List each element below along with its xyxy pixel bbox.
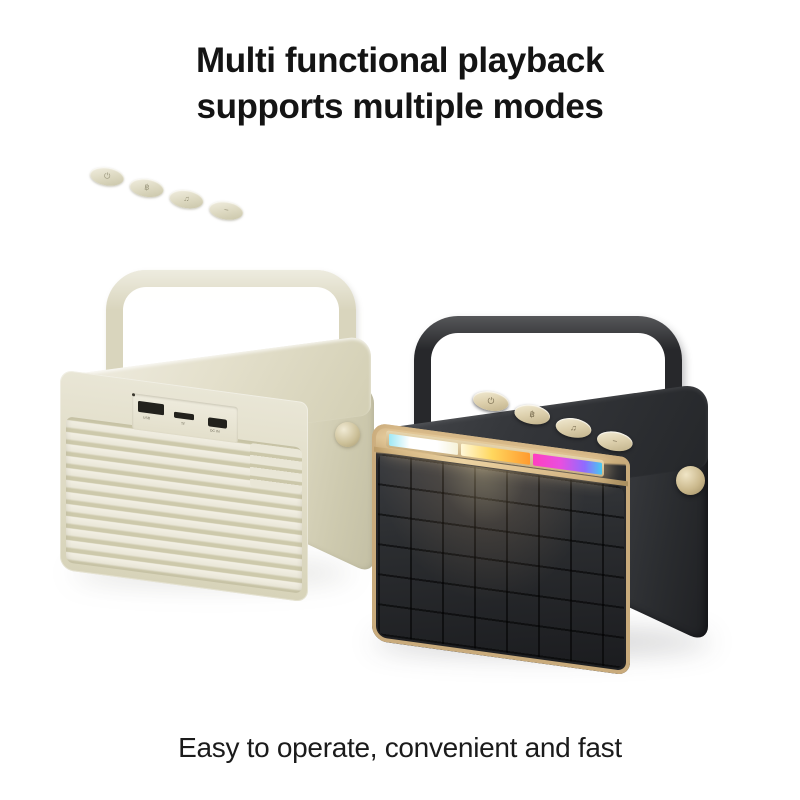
page-title-line-1: Multi functional playback <box>0 38 800 84</box>
black-bluetooth-button[interactable]: ฿ <box>513 402 552 427</box>
cream-dc-label: DC IN <box>210 428 220 433</box>
volume-icon: − <box>612 437 618 446</box>
black-handle-mount-icon <box>676 466 705 495</box>
black-waffle-grille <box>378 453 624 669</box>
page-caption: Easy to operate, convenient and fast <box>0 732 800 764</box>
cream-mode-button[interactable]: ♫ <box>168 188 204 211</box>
cream-handle-mount-icon <box>335 422 360 447</box>
cream-volume-button[interactable]: − <box>208 199 244 222</box>
black-volume-button[interactable]: − <box>595 429 634 454</box>
power-icon: ⏻ <box>487 396 495 406</box>
music-note-icon: ♫ <box>183 195 190 204</box>
power-icon: ⏻ <box>103 172 111 181</box>
product-photo: USB TF DC IN ⏻ ฿ ♫ − <box>0 150 800 710</box>
cream-dc-in-port <box>208 417 227 429</box>
bluetooth-icon: ฿ <box>144 183 150 192</box>
cream-button-row: ⏻ ฿ ♫ − <box>86 165 259 225</box>
cream-side-vent <box>250 443 302 494</box>
cream-usb-label: USB <box>143 416 150 421</box>
music-note-icon: ♫ <box>570 423 578 432</box>
cream-tf-label: TF <box>181 422 185 427</box>
bluetooth-icon: ฿ <box>529 410 536 419</box>
volume-icon: − <box>223 206 229 215</box>
cream-usb-port <box>138 401 164 415</box>
black-mode-button[interactable]: ♫ <box>554 415 593 440</box>
cream-bluetooth-button[interactable]: ฿ <box>129 176 165 199</box>
cream-louver-grille <box>66 416 302 593</box>
cream-power-button[interactable]: ⏻ <box>89 165 125 188</box>
cream-front-panel: USB TF DC IN <box>60 369 308 602</box>
page-title-line-2: supports multiple modes <box>0 84 800 130</box>
page-title: Multi functional playback supports multi… <box>0 38 800 130</box>
cream-status-led-icon <box>132 393 135 396</box>
cream-tf-card-slot <box>174 412 194 421</box>
black-front-panel <box>372 422 630 675</box>
